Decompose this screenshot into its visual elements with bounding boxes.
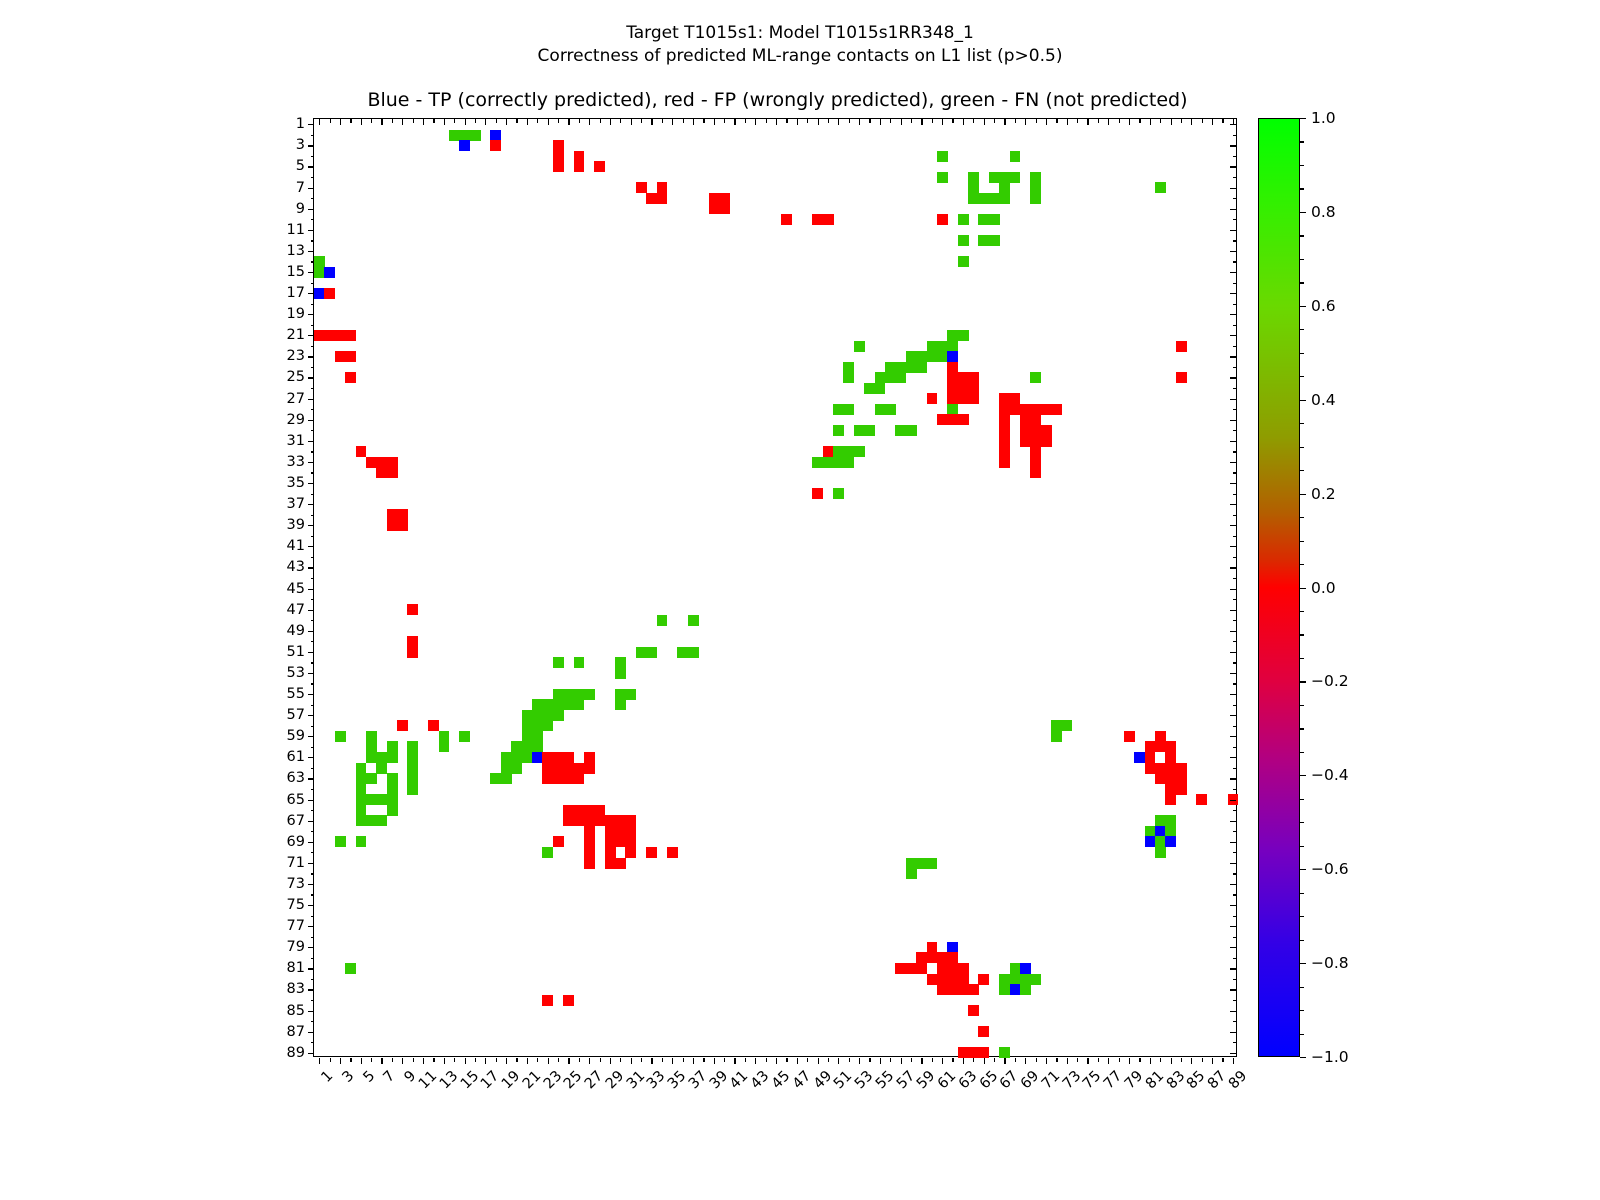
contact-cell xyxy=(459,140,470,151)
contact-cell xyxy=(615,668,626,679)
contact-cell xyxy=(1030,436,1041,447)
x-axis-tick-top xyxy=(568,119,569,125)
contact-cell xyxy=(615,858,626,869)
y-axis-tick xyxy=(311,726,315,727)
contact-cell xyxy=(937,341,948,352)
x-axis-tick-top xyxy=(1087,119,1088,125)
x-axis-tick-top xyxy=(786,119,787,123)
colorbar-tick xyxy=(1300,681,1306,682)
y-axis-tick xyxy=(308,166,314,167)
contact-cell xyxy=(709,203,720,214)
y-axis-tick xyxy=(311,261,315,262)
contact-cell xyxy=(345,330,356,341)
x-axis-tick xyxy=(423,1058,424,1064)
x-axis-tick xyxy=(1129,1058,1130,1064)
y-axis-label: 79 xyxy=(287,939,305,955)
contact-cell xyxy=(397,509,408,520)
y-axis-tick xyxy=(311,683,315,684)
contact-cell xyxy=(584,847,595,858)
x-axis-tick-top xyxy=(1077,119,1078,123)
x-axis-tick-top xyxy=(392,119,393,123)
colorbar-tick xyxy=(1300,259,1304,260)
x-axis-tick-top xyxy=(1160,119,1161,123)
contact-cell xyxy=(335,351,346,362)
y-axis-tick xyxy=(308,589,314,590)
x-axis-tick-top xyxy=(714,119,715,125)
x-axis-tick-top xyxy=(371,119,372,123)
contact-cell xyxy=(387,457,398,468)
contact-cell xyxy=(490,773,501,784)
contact-cell xyxy=(958,974,969,985)
x-axis-tick-top xyxy=(527,119,528,125)
contact-cell xyxy=(584,836,595,847)
contact-cell xyxy=(376,794,387,805)
y-axis-tick xyxy=(308,251,314,252)
contact-cell xyxy=(594,815,605,826)
contact-cell xyxy=(615,826,626,837)
contact-cell xyxy=(542,720,553,731)
x-axis-tick xyxy=(402,1058,403,1064)
x-axis-tick-top xyxy=(911,119,912,123)
x-axis-tick-top xyxy=(330,119,331,123)
contact-cell xyxy=(553,763,564,774)
contact-cell xyxy=(968,182,979,193)
contact-cell xyxy=(522,731,533,742)
y-axis-tick xyxy=(308,673,314,674)
x-axis-tick xyxy=(1004,1058,1005,1064)
colorbar-tick xyxy=(1300,541,1304,542)
y-axis-tick-right xyxy=(1233,451,1237,452)
contact-cell xyxy=(999,393,1010,404)
contact-cell xyxy=(615,689,626,700)
y-axis-tick xyxy=(308,356,314,357)
contact-cell xyxy=(553,836,564,847)
contact-cell xyxy=(657,182,668,193)
contact-cell xyxy=(999,1047,1010,1058)
x-axis-tick-top xyxy=(807,119,808,123)
x-axis-tick xyxy=(1046,1058,1047,1064)
contact-cell xyxy=(958,383,969,394)
contact-cell xyxy=(376,815,387,826)
x-axis-tick-top xyxy=(849,119,850,123)
y-axis-tick-right xyxy=(1233,789,1237,790)
y-axis-tick xyxy=(308,842,314,843)
contact-cell xyxy=(532,699,543,710)
contact-cell xyxy=(1020,974,1031,985)
contact-cell xyxy=(937,963,948,974)
contact-cell xyxy=(937,952,948,963)
y-axis-tick-right xyxy=(1230,230,1236,231)
contact-cell xyxy=(1010,393,1021,404)
contact-cell xyxy=(522,752,533,763)
x-axis-tick-top xyxy=(361,119,362,125)
contact-cell xyxy=(1176,372,1187,383)
contact-cell xyxy=(709,193,720,204)
x-axis-tick-top xyxy=(932,119,933,123)
contact-cell xyxy=(605,858,616,869)
y-axis-label: 83 xyxy=(287,981,305,997)
contact-cell xyxy=(407,647,418,658)
y-axis-tick xyxy=(311,156,315,157)
x-axis-tick-top xyxy=(1202,119,1203,123)
y-axis-tick xyxy=(311,810,315,811)
y-axis-label: 33 xyxy=(287,454,305,470)
x-axis-tick xyxy=(579,1058,580,1062)
y-axis-tick xyxy=(308,525,314,526)
x-axis-tick xyxy=(433,1058,434,1062)
y-axis-tick-right xyxy=(1233,873,1237,874)
y-axis-tick-right xyxy=(1230,145,1236,146)
colorbar-tick xyxy=(1300,705,1304,706)
contact-cell xyxy=(407,773,418,784)
contact-cell xyxy=(646,193,657,204)
contact-cell xyxy=(958,1047,969,1058)
x-axis-tick xyxy=(859,1058,860,1064)
contact-cell xyxy=(1155,763,1166,774)
y-axis-tick-right xyxy=(1233,1000,1237,1001)
y-axis-tick xyxy=(311,1042,315,1043)
y-axis-tick xyxy=(311,641,315,642)
contact-cell xyxy=(895,362,906,373)
contact-cell xyxy=(947,351,958,362)
y-axis-tick xyxy=(311,198,315,199)
colorbar-label: −1.0 xyxy=(1311,1048,1349,1066)
contact-cell xyxy=(1165,763,1176,774)
contact-cell xyxy=(636,647,647,658)
contact-cell xyxy=(968,372,979,383)
y-axis-tick-right xyxy=(1233,261,1237,262)
y-axis-tick xyxy=(311,557,315,558)
y-axis-tick xyxy=(308,947,314,948)
contact-cell xyxy=(1145,836,1156,847)
y-axis-tick-right xyxy=(1233,515,1237,516)
y-axis-tick-right xyxy=(1230,800,1236,801)
contact-cell xyxy=(553,773,564,784)
y-axis-tick-right xyxy=(1233,705,1237,706)
contact-cell xyxy=(1165,826,1176,837)
y-axis-tick-right xyxy=(1233,1042,1237,1043)
contact-cell xyxy=(324,288,335,299)
x-axis-label: 1 xyxy=(319,1068,337,1086)
colorbar-tick xyxy=(1300,658,1304,659)
contact-cell xyxy=(501,752,512,763)
contact-cell xyxy=(843,404,854,415)
contact-cell xyxy=(978,193,989,204)
contact-cell xyxy=(1041,425,1052,436)
x-axis-tick-top xyxy=(1046,119,1047,125)
y-axis-tick xyxy=(308,124,314,125)
contact-cell xyxy=(989,214,1000,225)
y-axis-tick xyxy=(308,652,314,653)
y-axis-label: 47 xyxy=(287,602,305,618)
contact-cell xyxy=(397,520,408,531)
y-axis-label: 77 xyxy=(287,918,305,934)
x-axis-tick-top xyxy=(454,119,455,123)
y-axis-tick-right xyxy=(1230,567,1236,568)
contact-cell xyxy=(553,710,564,721)
contact-cell xyxy=(1155,731,1166,742)
contact-cell xyxy=(947,330,958,341)
y-axis-tick xyxy=(311,388,315,389)
x-axis-tick-top xyxy=(797,119,798,125)
contact-cell xyxy=(906,425,917,436)
y-axis-tick-right xyxy=(1233,367,1237,368)
contact-cell xyxy=(1041,404,1052,415)
contact-cell xyxy=(968,984,979,995)
x-axis-tick-top xyxy=(496,119,497,123)
y-axis-tick xyxy=(308,272,314,273)
contact-cell xyxy=(1155,773,1166,784)
x-axis-tick xyxy=(319,1058,320,1064)
x-axis-tick-top xyxy=(631,119,632,125)
contact-cell xyxy=(1051,731,1062,742)
y-axis-label: 87 xyxy=(287,1024,305,1040)
contact-cell xyxy=(895,963,906,974)
x-axis-tick xyxy=(361,1058,362,1064)
contact-cell xyxy=(1010,984,1021,995)
x-axis-tick xyxy=(548,1058,549,1064)
y-axis-tick-right xyxy=(1230,968,1236,969)
contact-cell xyxy=(366,773,377,784)
y-axis-tick-right xyxy=(1230,926,1236,927)
y-axis-tick-right xyxy=(1233,198,1237,199)
contact-cell xyxy=(989,193,1000,204)
x-axis-tick xyxy=(527,1058,528,1064)
y-axis-tick xyxy=(308,778,314,779)
figure-title-line-2: Correctness of predicted ML-range contac… xyxy=(0,45,1600,68)
contact-cell xyxy=(366,794,377,805)
figure-title-block: Target T1015s1: Model T1015s1RR348_1 Cor… xyxy=(0,22,1600,68)
contact-cell xyxy=(999,974,1010,985)
x-axis-tick xyxy=(1077,1058,1078,1062)
contact-cell xyxy=(324,267,335,278)
x-axis-tick-top xyxy=(516,119,517,123)
x-axis-tick xyxy=(392,1058,393,1062)
y-axis-tick xyxy=(311,304,315,305)
contact-cell xyxy=(657,615,668,626)
y-axis-tick xyxy=(308,1032,314,1033)
y-axis-tick-right xyxy=(1233,958,1237,959)
contact-cell xyxy=(574,763,585,774)
contact-cell xyxy=(407,604,418,615)
contact-cell xyxy=(563,773,574,784)
x-axis-tick xyxy=(558,1058,559,1062)
contact-cell xyxy=(1030,974,1041,985)
contact-cell xyxy=(625,836,636,847)
colorbar-tick xyxy=(1300,963,1306,964)
contact-cell xyxy=(1010,172,1021,183)
contact-cell xyxy=(366,752,377,763)
contact-cell xyxy=(843,362,854,373)
contact-cell xyxy=(407,763,418,774)
colorbar-label: 0.4 xyxy=(1311,391,1336,409)
x-axis-tick xyxy=(901,1058,902,1064)
contact-cell xyxy=(937,172,948,183)
contact-cell xyxy=(968,383,979,394)
x-axis-tick-top xyxy=(1233,119,1234,125)
contact-cell xyxy=(615,657,626,668)
contact-cell xyxy=(345,351,356,362)
contact-cell xyxy=(459,130,470,141)
contact-cell xyxy=(1165,773,1176,784)
contact-cell xyxy=(823,457,834,468)
y-axis-tick xyxy=(308,504,314,505)
contact-cell xyxy=(356,815,367,826)
contact-cell xyxy=(968,172,979,183)
y-axis-label: 9 xyxy=(296,201,305,217)
x-axis-tick-top xyxy=(921,119,922,125)
colorbar-tick xyxy=(1300,822,1304,823)
y-axis-tick-right xyxy=(1233,156,1237,157)
contact-map-cells xyxy=(314,119,1236,1056)
contact-cell xyxy=(574,161,585,172)
y-axis-tick xyxy=(308,399,314,400)
y-axis-tick-right xyxy=(1233,768,1237,769)
x-axis-tick-top xyxy=(1067,119,1068,125)
y-axis-label: 85 xyxy=(287,1003,305,1019)
contact-cell xyxy=(947,362,958,373)
contact-cell xyxy=(563,763,574,774)
contact-cell xyxy=(563,689,574,700)
x-axis-tick xyxy=(381,1058,382,1064)
contact-cell xyxy=(812,488,823,499)
contact-cell xyxy=(989,172,1000,183)
x-axis-tick xyxy=(485,1058,486,1064)
x-axis-tick xyxy=(1067,1058,1068,1064)
contact-cell xyxy=(927,351,938,362)
y-axis-tick-right xyxy=(1233,430,1237,431)
contact-cell xyxy=(1051,720,1062,731)
colorbar-label: −0.8 xyxy=(1311,954,1349,972)
y-axis-tick xyxy=(308,209,314,210)
x-axis-tick-top xyxy=(485,119,486,125)
contact-cell xyxy=(657,193,668,204)
axes-legend-title: Blue - TP (correctly predicted), red - F… xyxy=(0,89,1555,111)
x-axis-tick-top xyxy=(340,119,341,125)
contact-cell xyxy=(1165,815,1176,826)
contact-cell xyxy=(947,963,958,974)
x-axis-tick xyxy=(734,1058,735,1064)
x-axis-tick xyxy=(641,1058,642,1062)
contact-cell xyxy=(532,752,543,763)
x-axis-tick xyxy=(911,1058,912,1062)
y-axis-tick-right xyxy=(1230,504,1236,505)
colorbar-tick xyxy=(1300,611,1304,612)
contact-cell xyxy=(584,689,595,700)
y-axis-tick-right xyxy=(1233,388,1237,389)
contact-cell xyxy=(947,942,958,953)
x-axis-tick xyxy=(994,1058,995,1062)
y-axis-tick xyxy=(311,662,315,663)
contact-cell xyxy=(978,1026,989,1037)
contact-cell xyxy=(387,805,398,816)
y-axis-tick xyxy=(311,325,315,326)
y-axis-tick-right xyxy=(1233,283,1237,284)
colorbar-tick xyxy=(1300,634,1304,635)
x-axis-tick-top xyxy=(776,119,777,125)
contact-cell xyxy=(1010,974,1021,985)
contact-cell xyxy=(906,351,917,362)
contact-cell xyxy=(1020,963,1031,974)
contact-cell xyxy=(937,214,948,225)
contact-cell xyxy=(1176,763,1187,774)
x-axis-tick-top xyxy=(693,119,694,125)
contact-cell xyxy=(947,952,958,963)
y-axis-tick xyxy=(311,916,315,917)
contact-cell xyxy=(1030,372,1041,383)
colorbar-tick xyxy=(1300,423,1304,424)
contact-cell xyxy=(958,330,969,341)
contact-cell xyxy=(356,773,367,784)
contact-cell xyxy=(927,393,938,404)
y-axis-tick xyxy=(311,873,315,874)
y-axis-tick-right xyxy=(1230,1032,1236,1033)
y-axis-label: 89 xyxy=(287,1045,305,1061)
x-axis-tick-top xyxy=(880,119,881,125)
contact-cell xyxy=(376,763,387,774)
contact-cell xyxy=(490,130,501,141)
x-axis-tick xyxy=(589,1058,590,1064)
y-axis-tick xyxy=(308,420,314,421)
contact-cell xyxy=(574,773,585,784)
y-axis-tick xyxy=(311,494,315,495)
x-axis-tick xyxy=(807,1058,808,1062)
x-axis-tick-top xyxy=(984,119,985,125)
x-axis-tick xyxy=(1108,1058,1109,1064)
x-axis-tick-top xyxy=(465,119,466,125)
contact-cell xyxy=(947,404,958,415)
y-axis-label: 39 xyxy=(287,517,305,533)
colorbar-tick xyxy=(1300,329,1304,330)
colorbar-tick xyxy=(1300,400,1306,401)
contact-cell xyxy=(999,193,1010,204)
y-axis-tick-right xyxy=(1233,641,1237,642)
contact-cell xyxy=(542,710,553,721)
colorbar-tick xyxy=(1300,799,1304,800)
contact-cell xyxy=(324,330,335,341)
contact-cell xyxy=(314,330,325,341)
contact-cell xyxy=(522,720,533,731)
y-axis-tick-right xyxy=(1233,346,1237,347)
contact-cell xyxy=(511,752,522,763)
contact-cell xyxy=(843,446,854,457)
y-axis-tick-right xyxy=(1230,694,1236,695)
contact-cell xyxy=(345,372,356,383)
x-axis-tick-top xyxy=(1015,119,1016,123)
x-axis-tick xyxy=(890,1058,891,1062)
x-axis-tick xyxy=(610,1058,611,1064)
contact-cell xyxy=(532,741,543,752)
contact-cell xyxy=(511,763,522,774)
colorbar-tick xyxy=(1300,775,1306,776)
contact-cell xyxy=(387,784,398,795)
y-axis-tick xyxy=(308,335,314,336)
contact-cell xyxy=(366,815,377,826)
contact-cell xyxy=(947,341,958,352)
x-axis-tick-top xyxy=(1150,119,1151,125)
x-axis-tick-top xyxy=(838,119,839,125)
x-axis-tick xyxy=(1171,1058,1172,1064)
y-axis-tick-right xyxy=(1230,1053,1236,1054)
contact-cell xyxy=(1155,826,1166,837)
contact-cell xyxy=(584,752,595,763)
y-axis-tick xyxy=(311,409,315,410)
x-axis-tick xyxy=(755,1058,756,1064)
contact-cell xyxy=(532,720,543,731)
y-axis-tick-right xyxy=(1230,188,1236,189)
contact-cell xyxy=(542,773,553,784)
contact-cell xyxy=(1010,151,1021,162)
